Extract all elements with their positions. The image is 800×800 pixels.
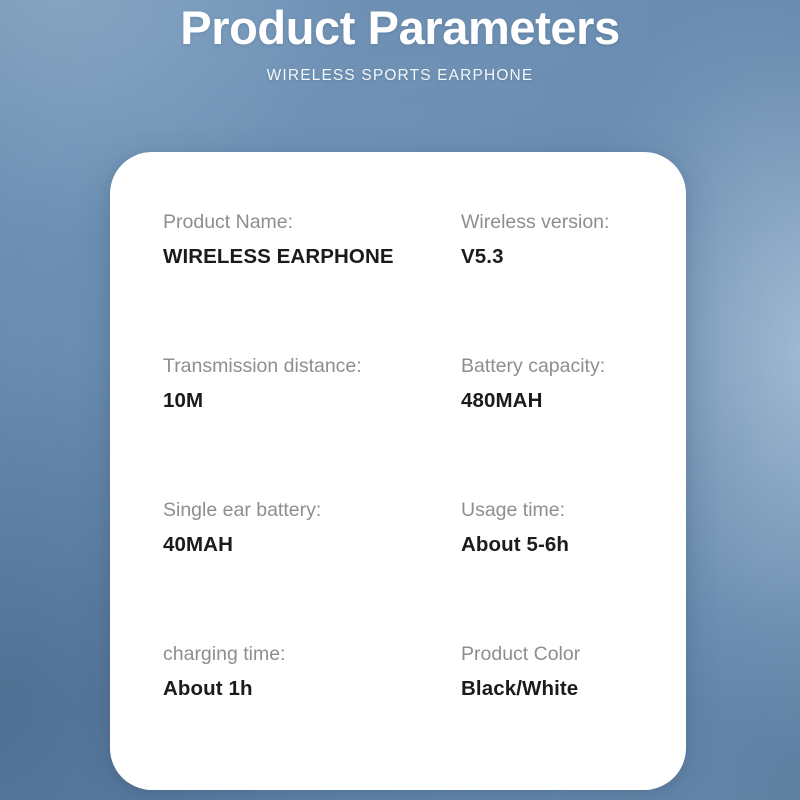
spec-item-product-name: Product Name: WIRELESS EARPHONE: [163, 210, 461, 354]
spec-value: About 1h: [163, 676, 461, 702]
spec-value: 480MAH: [461, 388, 668, 414]
spec-value: About 5-6h: [461, 532, 668, 558]
spec-label: Product Name:: [163, 210, 461, 234]
spec-item-transmission-distance: Transmission distance: 10M: [163, 354, 461, 498]
spec-value: 40MAH: [163, 532, 461, 558]
page-subtitle: WIRELESS SPORTS EARPHONE: [0, 55, 800, 85]
spec-label: Single ear battery:: [163, 498, 461, 522]
page-title: Product Parameters: [0, 0, 800, 55]
spec-label: Transmission distance:: [163, 354, 461, 378]
spec-value: 10M: [163, 388, 461, 414]
product-parameters-page: Product Parameters WIRELESS SPORTS EARPH…: [0, 0, 800, 800]
spec-label: charging time:: [163, 642, 461, 666]
spec-item-wireless-version: Wireless version: V5.3: [461, 210, 668, 354]
spec-label: Usage time:: [461, 498, 668, 522]
spec-grid: Product Name: WIRELESS EARPHONE Wireless…: [163, 210, 668, 786]
spec-item-single-ear-battery: Single ear battery: 40MAH: [163, 498, 461, 642]
spec-card: Product Name: WIRELESS EARPHONE Wireless…: [110, 152, 686, 790]
spec-label: Wireless version:: [461, 210, 668, 234]
spec-label: Battery capacity:: [461, 354, 668, 378]
spec-item-battery-capacity: Battery capacity: 480MAH: [461, 354, 668, 498]
spec-item-charging-time: charging time: About 1h: [163, 642, 461, 786]
spec-value: V5.3: [461, 244, 668, 270]
spec-value: Black/White: [461, 676, 668, 702]
page-header: Product Parameters WIRELESS SPORTS EARPH…: [0, 0, 800, 85]
spec-label: Product Color: [461, 642, 668, 666]
spec-item-product-color: Product Color Black/White: [461, 642, 668, 786]
spec-item-usage-time: Usage time: About 5-6h: [461, 498, 668, 642]
spec-value: WIRELESS EARPHONE: [163, 244, 461, 270]
